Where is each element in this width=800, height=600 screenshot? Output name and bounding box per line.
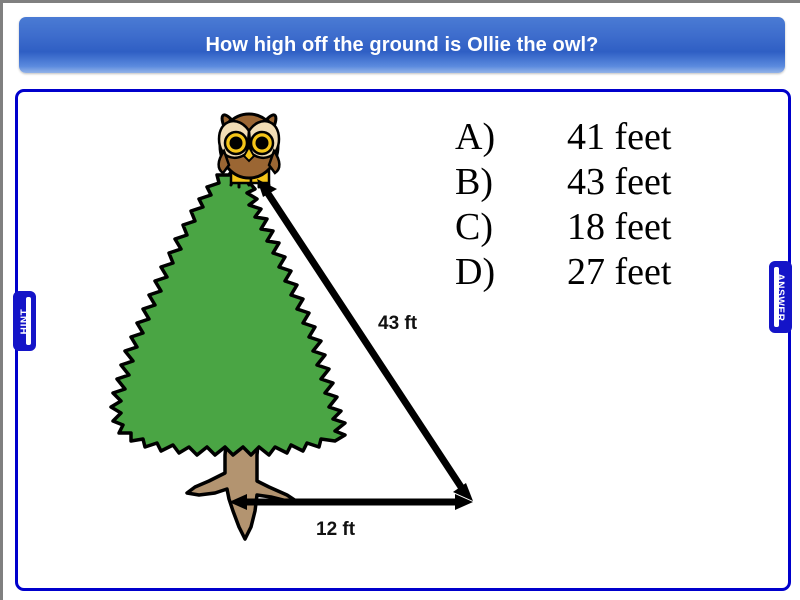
hint-tab-accent [26, 297, 31, 345]
answer-choices: A) 41 feet B) 43 feet C) 18 feet D) 27 f… [455, 115, 671, 295]
hint-tab-button[interactable]: HINT [13, 291, 36, 351]
choice-value-b: 43 feet [567, 160, 671, 204]
choice-letter-b: B) [455, 160, 567, 204]
page-title: How high off the ground is Ollie the owl… [206, 34, 599, 57]
choice-row-a[interactable]: A) 41 feet [455, 115, 671, 160]
choice-letter-c: C) [455, 205, 567, 249]
choice-row-c[interactable]: C) 18 feet [455, 205, 671, 250]
slide-canvas: How high off the ground is Ollie the owl… [0, 0, 800, 600]
choice-letter-d: D) [455, 250, 567, 294]
choice-value-a: 41 feet [567, 115, 671, 159]
choice-value-c: 18 feet [567, 205, 671, 249]
content-panel [15, 89, 791, 591]
answer-tab-accent [774, 267, 779, 327]
choice-row-b[interactable]: B) 43 feet [455, 160, 671, 205]
choice-row-d[interactable]: D) 27 feet [455, 250, 671, 295]
choice-letter-a: A) [455, 115, 567, 159]
answer-tab-button[interactable]: ANSWER [769, 261, 792, 333]
hypotenuse-label: 43 ft [378, 313, 417, 335]
base-label: 12 ft [316, 519, 355, 541]
question-title-bar: How high off the ground is Ollie the owl… [19, 17, 785, 73]
choice-value-d: 27 feet [567, 250, 671, 294]
